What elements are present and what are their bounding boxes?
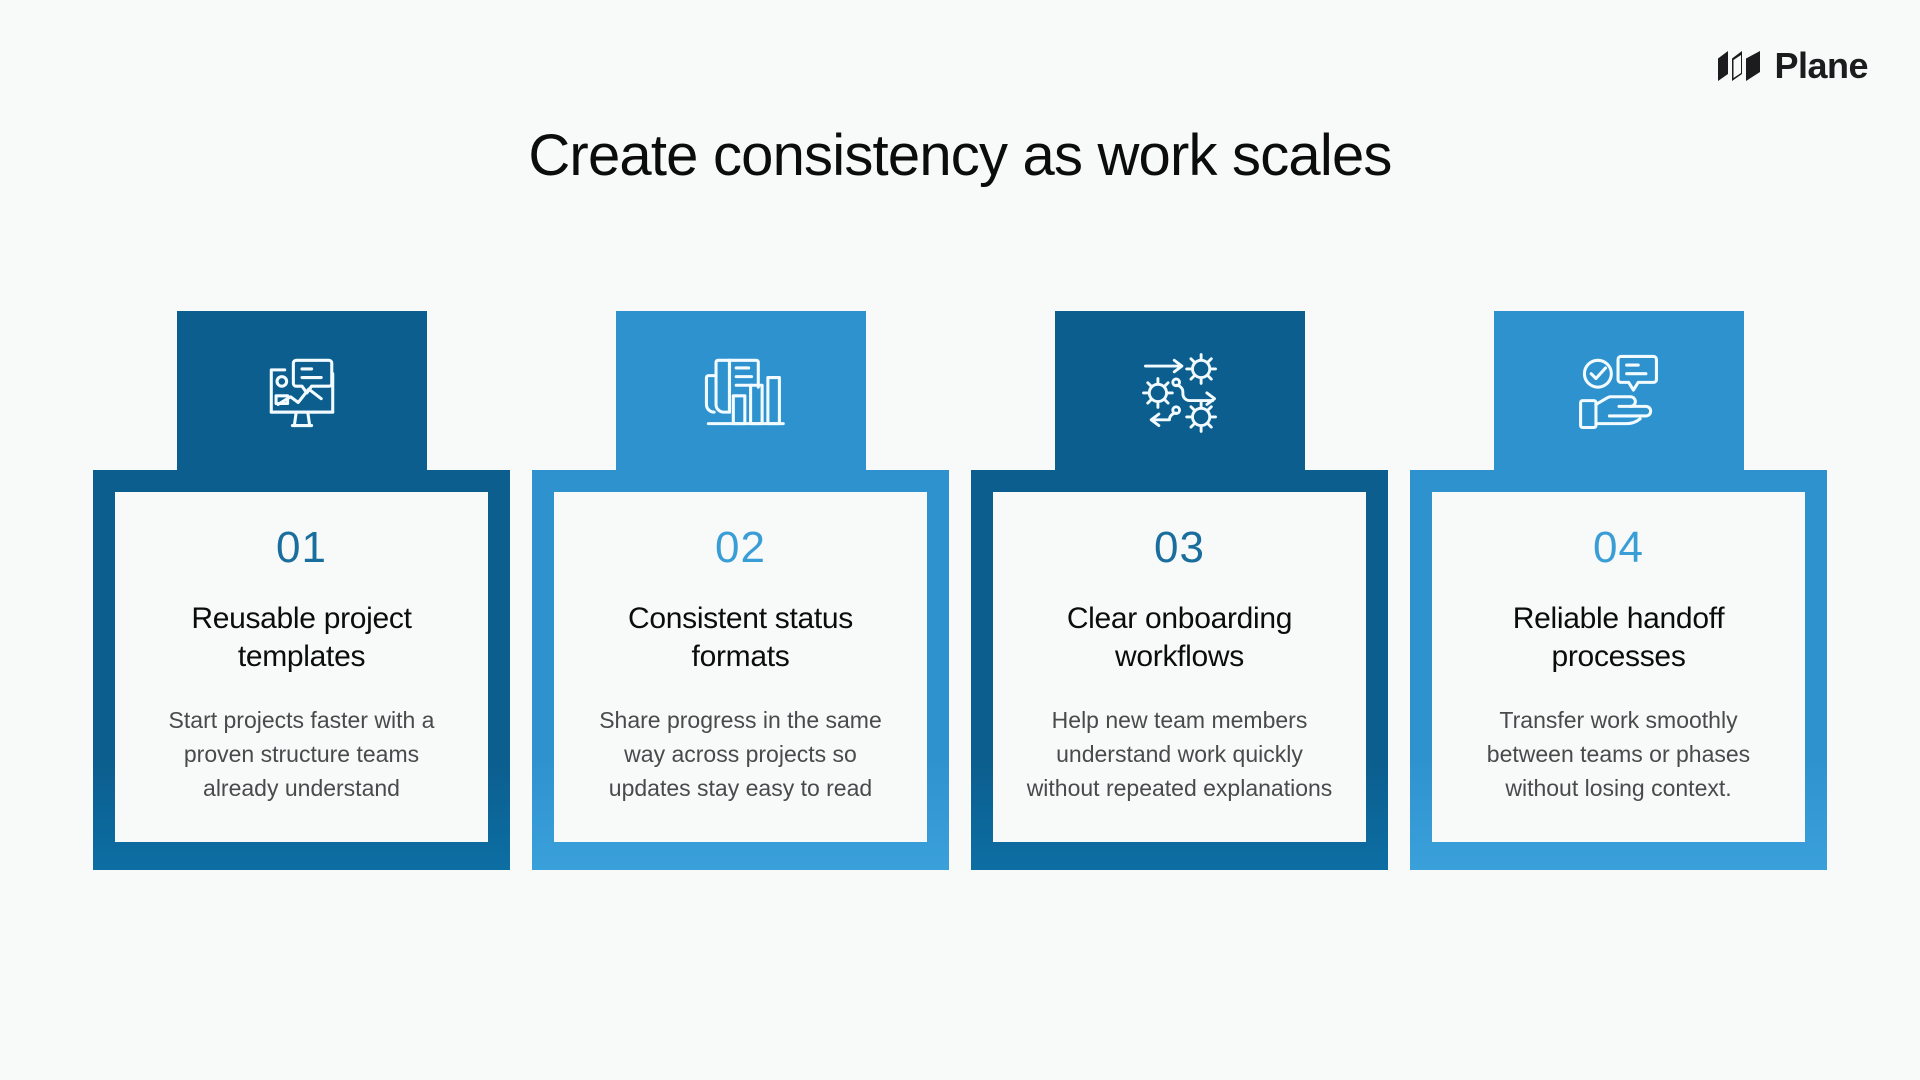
card-01-icon-tab — [177, 311, 427, 471]
plane-logo-icon — [1716, 49, 1762, 83]
card-02-panel: 02 Consistent status formats Share progr… — [554, 492, 927, 842]
card-03: 03 Clear onboarding workflows Help new t… — [971, 311, 1388, 870]
card-02-number: 02 — [715, 526, 766, 570]
card-04-frame: 04 Reliable handoff processes Transfer w… — [1410, 470, 1827, 870]
card-04-panel: 04 Reliable handoff processes Transfer w… — [1432, 492, 1805, 842]
card-04-heading: Reliable handoff processes — [1469, 600, 1769, 677]
dashboard-monitor-icon — [254, 343, 350, 439]
card-01-frame: 01 Reusable project templates Start proj… — [93, 470, 510, 870]
card-04-number: 04 — [1593, 526, 1644, 570]
card-02-body: Share progress in the same way across pr… — [586, 703, 896, 805]
card-02-icon-tab — [616, 311, 866, 471]
card-01: 01 Reusable project templates Start proj… — [93, 311, 510, 870]
card-03-body: Help new team members understand work qu… — [1025, 703, 1335, 805]
card-02: 02 Consistent status formats Share progr… — [532, 311, 949, 870]
card-04-icon-tab — [1494, 311, 1744, 471]
card-02-heading: Consistent status formats — [591, 600, 891, 677]
card-03-frame: 03 Clear onboarding workflows Help new t… — [971, 470, 1388, 870]
card-01-body: Start projects faster with a proven stru… — [147, 703, 457, 805]
card-03-icon-tab — [1055, 311, 1305, 471]
card-04-body: Transfer work smoothly between teams or … — [1464, 703, 1774, 805]
card-03-panel: 03 Clear onboarding workflows Help new t… — [993, 492, 1366, 842]
page-title: Create consistency as work scales — [0, 122, 1920, 189]
cards-row: 01 Reusable project templates Start proj… — [93, 311, 1827, 870]
report-bar-chart-icon — [693, 343, 789, 439]
card-01-panel: 01 Reusable project templates Start proj… — [115, 492, 488, 842]
brand-logo: Plane — [1716, 48, 1868, 84]
gears-workflow-icon — [1132, 343, 1228, 439]
card-01-heading: Reusable project templates — [152, 600, 452, 677]
card-02-frame: 02 Consistent status formats Share progr… — [532, 470, 949, 870]
hand-checkmark-handoff-icon — [1571, 343, 1667, 439]
card-03-heading: Clear onboarding workflows — [1030, 600, 1330, 677]
card-03-number: 03 — [1154, 526, 1205, 570]
brand-name: Plane — [1774, 48, 1868, 84]
card-04: 04 Reliable handoff processes Transfer w… — [1410, 311, 1827, 870]
card-01-number: 01 — [276, 526, 327, 570]
